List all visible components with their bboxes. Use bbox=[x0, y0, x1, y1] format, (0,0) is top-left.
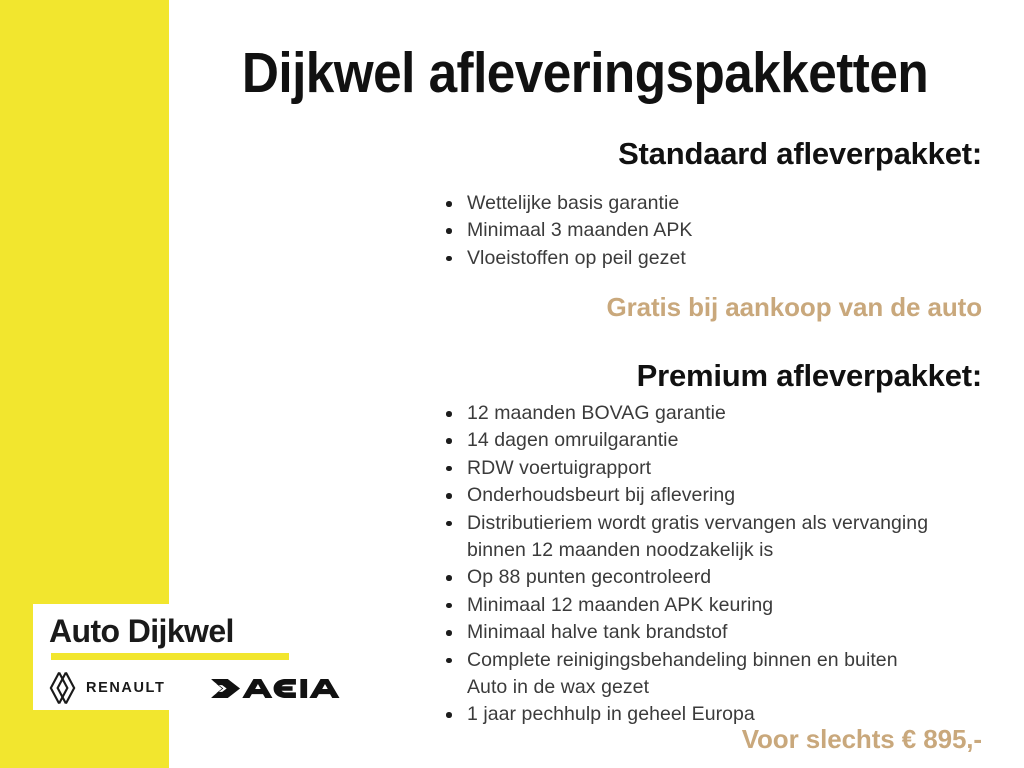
dealer-logo-block: Auto Dijkwel RENAULT bbox=[33, 604, 308, 710]
list-item: Distributieriem wordt gratis vervangen a… bbox=[440, 510, 965, 565]
list-item: Vloeistoffen op peil gezet bbox=[440, 245, 692, 272]
list-item: Minimaal 3 maanden APK bbox=[440, 217, 692, 244]
brand-logos-row: RENAULT bbox=[49, 671, 294, 705]
premium-feature-list: 12 maanden BOVAG garantie 14 dagen omrui… bbox=[440, 400, 965, 729]
page-title: Dijkwel afleveringspakketten bbox=[221, 41, 950, 105]
section-heading-premium: Premium afleverpakket: bbox=[637, 358, 982, 394]
slide-canvas: Dijkwel afleveringspakketten Standaard a… bbox=[0, 0, 1024, 768]
list-item: Minimaal halve tank brandstof bbox=[440, 619, 965, 646]
logo-yellow-bar bbox=[51, 653, 289, 660]
list-item: 14 dagen omruilgarantie bbox=[440, 427, 965, 454]
list-item-subtext: Auto in de wax gezet bbox=[467, 674, 965, 701]
list-item: Op 88 punten gecontroleerd bbox=[440, 564, 965, 591]
premium-price-note: Voor slechts € 895,- bbox=[742, 723, 982, 755]
list-item: RDW voertuigrapport bbox=[440, 455, 965, 482]
standaard-price-note: Gratis bij aankoop van de auto bbox=[606, 291, 982, 323]
list-item: Onderhoudsbeurt bij aflevering bbox=[440, 482, 965, 509]
list-item-text: Complete reinigingsbehandeling binnen en… bbox=[467, 649, 898, 671]
section-heading-standaard: Standaard afleverpakket: bbox=[618, 136, 982, 172]
list-item: Wettelijke basis garantie bbox=[440, 190, 692, 217]
logo-wordmark-auto-dijkwel: Auto Dijkwel bbox=[49, 612, 294, 650]
list-item: 12 maanden BOVAG garantie bbox=[440, 400, 965, 427]
renault-wordmark: RENAULT bbox=[86, 681, 165, 696]
list-item: Complete reinigingsbehandeling binnen en… bbox=[440, 647, 965, 702]
standaard-feature-list: Wettelijke basis garantie Minimaal 3 maa… bbox=[440, 190, 692, 272]
list-item: Minimaal 12 maanden APK keuring bbox=[440, 592, 965, 619]
dacia-wordmark-icon bbox=[211, 679, 340, 698]
list-item-text: Distributieriem wordt gratis vervangen a… bbox=[467, 512, 928, 561]
renault-diamond-icon bbox=[49, 671, 76, 705]
